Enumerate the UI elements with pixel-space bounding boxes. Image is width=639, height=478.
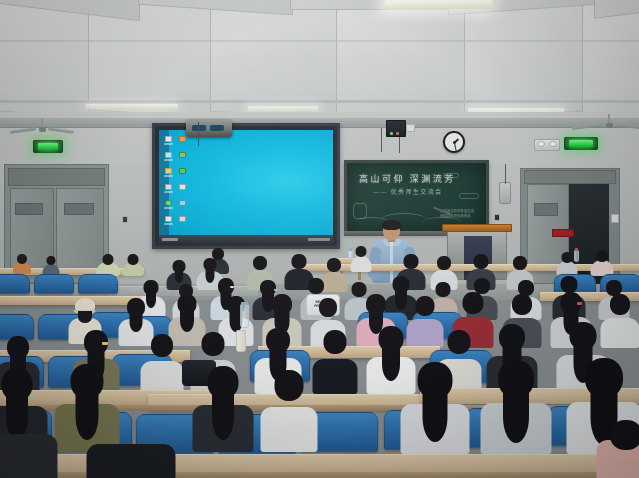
student xyxy=(350,246,372,272)
door-transom xyxy=(8,168,105,186)
emergency-light xyxy=(534,139,560,151)
settings-icon[interactable] xyxy=(179,200,186,206)
student xyxy=(480,360,552,454)
projected-desktop xyxy=(159,130,333,235)
projection-screen[interactable] xyxy=(152,123,340,249)
hanging-cable xyxy=(381,128,382,152)
student xyxy=(312,330,358,394)
lecture-hall-photo: 高山可仰 深渊流芳 —— 优秀师生交流会 欢迎各位同学参加交流 请保持现场安静有… xyxy=(0,0,639,478)
chat-app-icon[interactable] xyxy=(179,168,186,174)
ceiling-panel xyxy=(210,0,338,116)
antivirus-icon[interactable] xyxy=(165,200,172,206)
hanging-cable xyxy=(399,137,400,153)
recycle-bin-icon[interactable] xyxy=(165,152,172,158)
fluorescent-light-left-2 xyxy=(248,106,318,111)
student xyxy=(86,444,176,478)
water-bottle[interactable] xyxy=(240,304,249,328)
student xyxy=(54,364,120,452)
taskbar-tray-area[interactable] xyxy=(308,238,330,241)
student xyxy=(192,366,254,452)
student xyxy=(42,256,60,274)
file-icon[interactable] xyxy=(165,216,172,222)
lecture-seat[interactable] xyxy=(0,274,30,294)
blackboard: 高山可仰 深渊流芳 —— 优秀师生交流会 欢迎各位同学参加交流 请保持现场安静有… xyxy=(344,160,489,234)
ceiling-fan-right xyxy=(586,114,632,134)
student xyxy=(122,254,144,276)
student xyxy=(140,334,184,394)
blackboard-title: 高山可仰 深渊流芳 xyxy=(359,172,456,185)
red-door-sign xyxy=(552,229,574,237)
exit-sign-left xyxy=(33,140,63,153)
power-outlet-plate xyxy=(611,214,619,223)
door-window xyxy=(534,203,558,216)
screen-hanging-wire xyxy=(198,122,199,146)
door-transom xyxy=(524,170,616,184)
door-window xyxy=(15,203,43,215)
media-player-icon[interactable] xyxy=(165,184,172,190)
student xyxy=(596,428,639,478)
ceiling-panel xyxy=(336,0,466,115)
lectern-top xyxy=(442,224,512,232)
chalk-cloud xyxy=(459,193,479,199)
student-audience: BE MORE PREPARED xyxy=(0,258,639,478)
ceiling-rail xyxy=(0,40,639,42)
interactive-whiteboard-camera xyxy=(186,120,232,137)
student xyxy=(590,250,614,276)
thermos-flask[interactable] xyxy=(236,330,246,352)
door-window xyxy=(64,203,94,215)
wall-speaker xyxy=(499,182,511,204)
student xyxy=(400,362,470,454)
browser-icon[interactable] xyxy=(179,136,186,142)
chalk-pot xyxy=(353,203,367,219)
wall-sensor xyxy=(406,124,415,132)
light-switch[interactable] xyxy=(122,216,128,223)
wall-sensor xyxy=(494,214,500,221)
speaker-cable xyxy=(505,164,506,184)
ceiling-rail xyxy=(0,100,639,103)
student xyxy=(96,254,120,276)
fluorescent-light-left xyxy=(86,104,179,109)
student xyxy=(0,434,58,478)
shortcut-icon[interactable] xyxy=(179,216,186,222)
av-control-box xyxy=(386,120,406,137)
lecture-seat[interactable] xyxy=(34,274,74,294)
ceiling-fan-left xyxy=(22,118,62,136)
student xyxy=(260,370,318,452)
computer-icon[interactable] xyxy=(165,136,172,142)
fluorescent-light-center xyxy=(382,0,493,9)
taskbar-start-area[interactable] xyxy=(162,238,178,241)
water-bottle[interactable] xyxy=(574,250,579,262)
document-icon[interactable] xyxy=(179,152,186,158)
suspended-panel-ceiling xyxy=(0,0,639,118)
exit-sign-right xyxy=(564,137,598,150)
student xyxy=(12,254,32,274)
chalk-cloud xyxy=(443,173,459,178)
desktop-taskbar[interactable] xyxy=(159,235,333,243)
folder-icon[interactable] xyxy=(165,168,172,174)
blackboard-subtitle: —— 优秀师生交流会 xyxy=(373,187,443,196)
office-app-icon[interactable] xyxy=(179,184,186,190)
wall-clock xyxy=(443,131,465,153)
lecture-seat[interactable] xyxy=(78,274,118,294)
